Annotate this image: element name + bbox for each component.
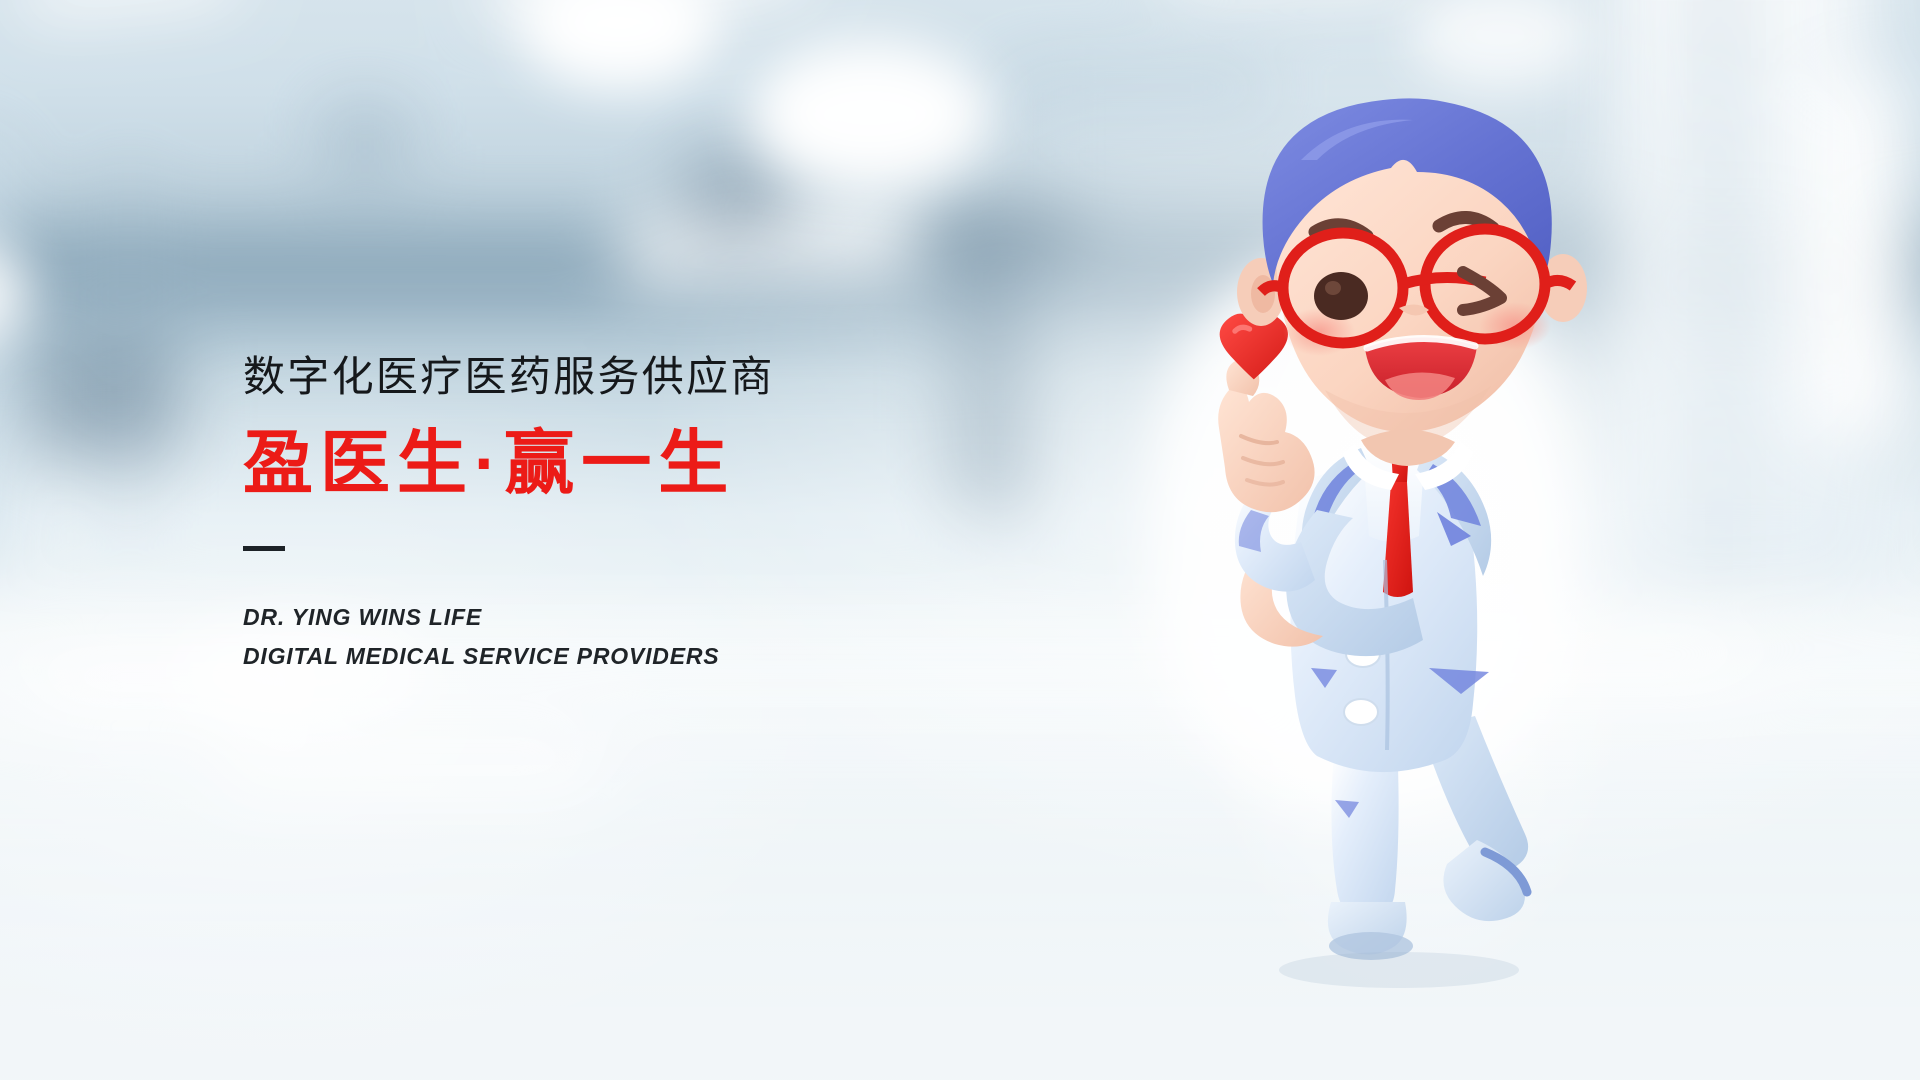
hero-subheadline: 数字化医疗医药服务供应商 [243, 352, 1003, 402]
hero-eyebrow-text: DR. YING WINS LIFE DIGITAL MEDICAL SERVI… [243, 598, 1003, 677]
coat-button-lower [1344, 699, 1378, 725]
glasses-temple-left [1261, 286, 1283, 292]
eyebrow-line-1: DR. YING WINS LIFE [243, 598, 1003, 638]
mascot-ground-shadow [1279, 952, 1519, 988]
hero-copy-block: 数字化医疗医药服务供应商 盈医生·赢一生 DR. YING WINS LIFE … [243, 352, 1003, 677]
hero-headline: 盈医生·赢一生 [243, 424, 1003, 502]
mascot-doctor-illustration [1185, 40, 1615, 1050]
glasses-temple-right [1545, 280, 1573, 286]
eyebrow-line-2: DIGITAL MEDICAL SERVICE PROVIDERS [243, 637, 1003, 677]
headline-divider-rule [243, 546, 285, 551]
eye-open-left [1314, 272, 1368, 320]
hero-banner: 数字化医疗医药服务供应商 盈医生·赢一生 DR. YING WINS LIFE … [0, 0, 1920, 1080]
